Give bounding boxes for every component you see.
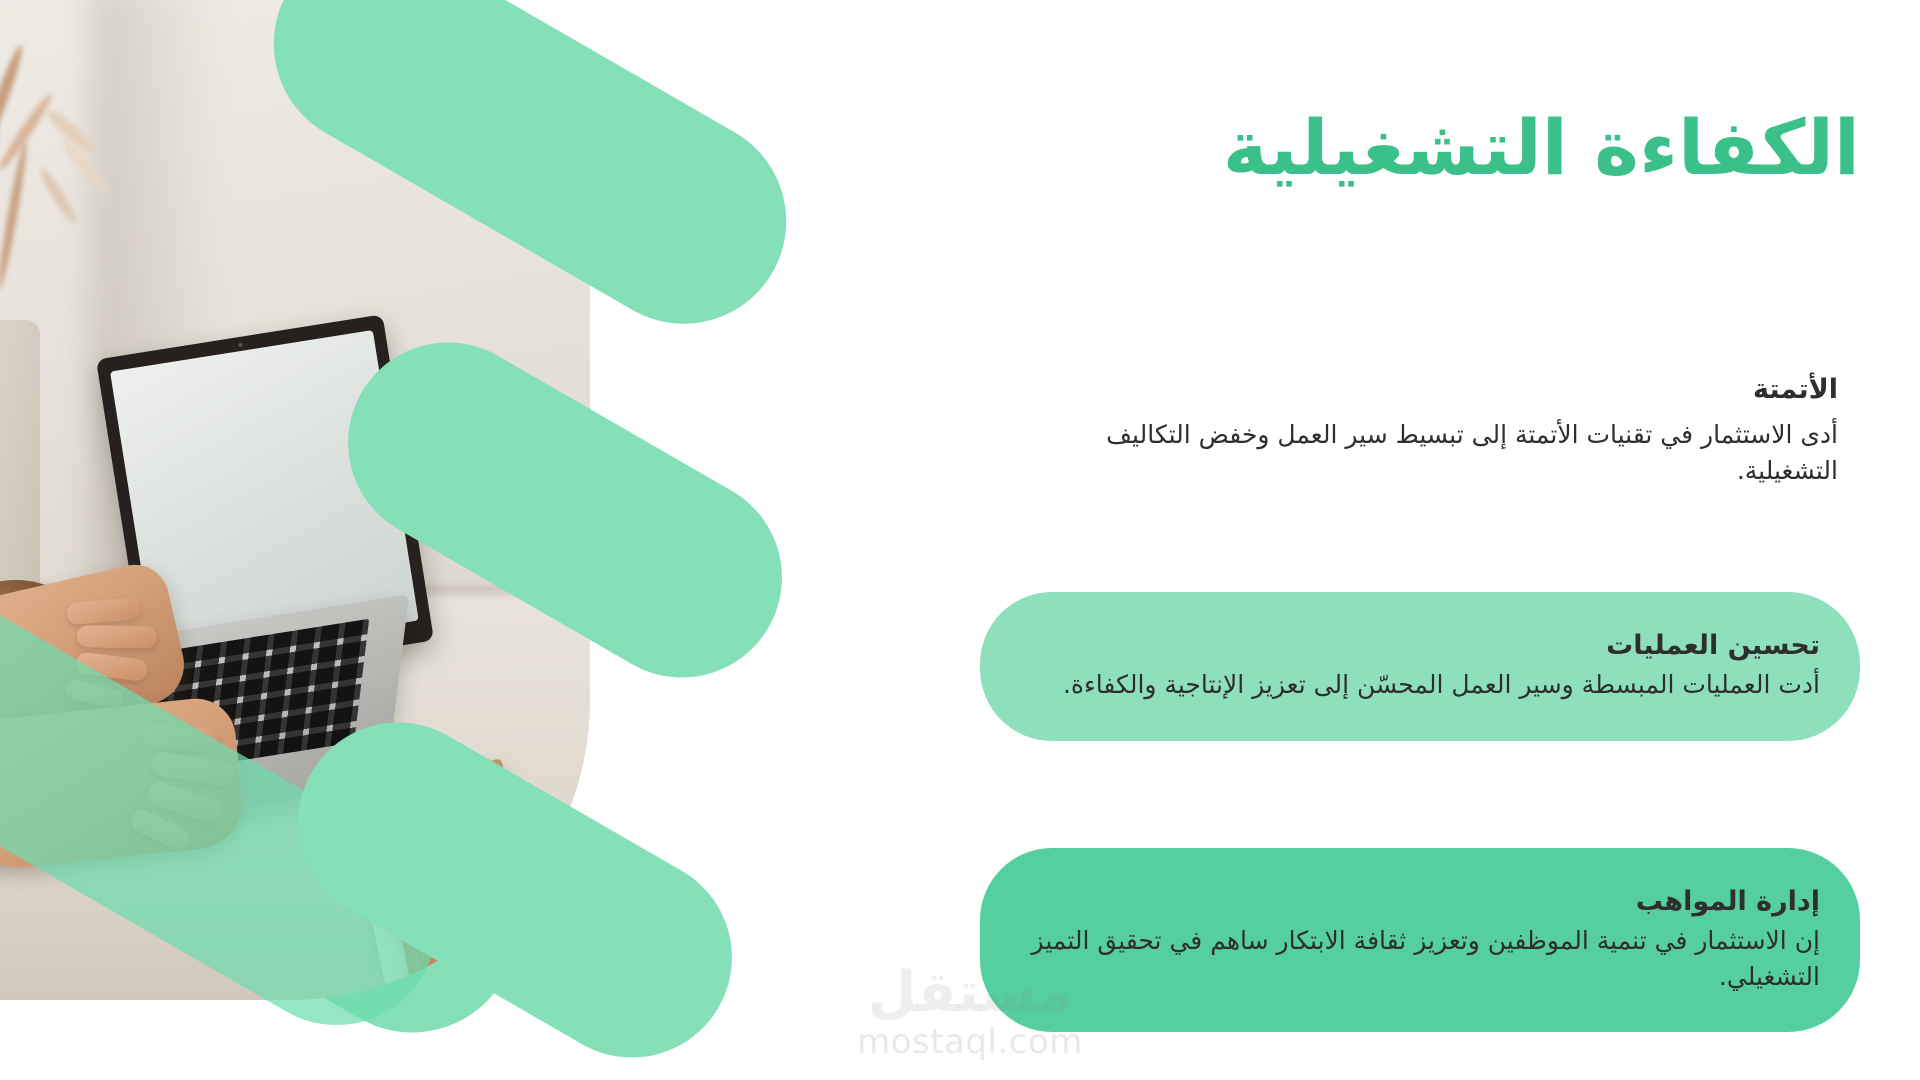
photo-dried-plant xyxy=(0,20,160,350)
section-body-talent: إن الاستثمار في تنمية الموظفين وتعزيز ثق… xyxy=(1020,923,1820,994)
section-heading-process: تحسين العمليات xyxy=(1020,628,1820,663)
photo-laptop-camera xyxy=(238,343,243,348)
section-body-process: أدت العمليات المبسطة وسير العمل المحسّن … xyxy=(1020,667,1820,703)
content-column: الكفاءة التشغيلية الأتمتة أدى الاستثمار … xyxy=(980,0,1860,1080)
section-heading-automation: الأتمتة xyxy=(958,372,1838,407)
section-body-automation: أدى الاستثمار في تقنيات الأتمتة إلى تبسي… xyxy=(958,417,1838,488)
section-heading-talent: إدارة المواهب xyxy=(1020,884,1820,919)
page-title: الكفاءة التشغيلية xyxy=(980,103,1860,193)
section-automation: الأتمتة أدى الاستثمار في تقنيات الأتمتة … xyxy=(958,372,1860,488)
photo-vase xyxy=(0,320,40,620)
slide-canvas: الكفاءة التشغيلية الأتمتة أدى الاستثمار … xyxy=(0,0,1920,1080)
left-visual-composition xyxy=(0,0,860,1080)
section-talent-card: إدارة المواهب إن الاستثمار في تنمية المو… xyxy=(980,848,1860,1032)
section-process-card: تحسين العمليات أدت العمليات المبسطة وسير… xyxy=(980,592,1860,741)
